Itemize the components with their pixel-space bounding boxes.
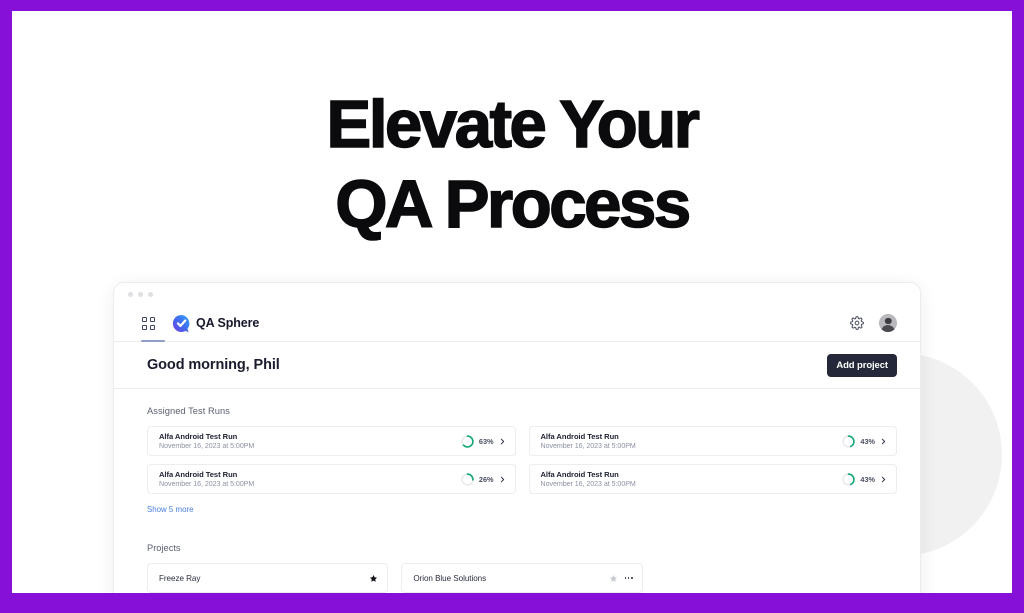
progress-percent: 63% xyxy=(479,437,494,446)
test-run-row[interactable]: Alfa Android Test Run November 16, 2023 … xyxy=(529,426,898,456)
chevron-right-icon[interactable] xyxy=(880,437,887,446)
star-outline-icon[interactable] xyxy=(609,574,618,583)
progress-percent: 43% xyxy=(860,437,875,446)
progress-ring-icon xyxy=(842,473,855,486)
project-actions xyxy=(369,574,378,583)
test-run-row[interactable]: Alfa Android Test Run November 16, 2023 … xyxy=(147,426,516,456)
test-runs-grid: Alfa Android Test Run November 16, 2023 … xyxy=(147,426,897,494)
test-run-progress: 63% xyxy=(461,435,506,448)
test-run-row[interactable]: Alfa Android Test Run November 16, 2023 … xyxy=(529,464,898,494)
active-tab-underline xyxy=(141,340,165,342)
test-run-progress: 43% xyxy=(842,435,887,448)
star-filled-icon[interactable] xyxy=(369,574,378,583)
test-run-title: Alfa Android Test Run xyxy=(159,470,254,479)
page-title: Good morning, Phil xyxy=(147,357,280,373)
topbar-right-actions xyxy=(850,314,897,332)
brand-logo[interactable]: QA Sphere xyxy=(172,314,259,333)
project-name: Orion Blue Solutions xyxy=(413,574,486,583)
test-run-date: November 16, 2023 at 5:00PM xyxy=(541,480,636,488)
gear-icon[interactable] xyxy=(850,316,864,330)
avatar-face xyxy=(885,318,892,325)
app-topbar: QA Sphere xyxy=(114,305,920,342)
more-options-icon[interactable] xyxy=(625,577,633,579)
test-run-title: Alfa Android Test Run xyxy=(159,432,254,441)
test-run-text: Alfa Android Test Run November 16, 2023 … xyxy=(541,470,636,489)
progress-ring-icon xyxy=(842,435,855,448)
projects-label: Projects xyxy=(147,543,897,553)
progress-percent: 43% xyxy=(860,475,875,484)
window-dot-maximize-icon xyxy=(148,292,153,297)
chevron-right-icon[interactable] xyxy=(499,475,506,484)
test-run-text: Alfa Android Test Run November 16, 2023 … xyxy=(541,432,636,451)
projects-grid: Freeze Ray Orion Blue Solutions xyxy=(147,563,897,593)
hero-line-1: Elevate Your xyxy=(12,85,1012,165)
test-run-date: November 16, 2023 at 5:00PM xyxy=(541,442,636,450)
project-card[interactable]: Orion Blue Solutions xyxy=(401,563,642,593)
progress-percent: 26% xyxy=(479,475,494,484)
window-dot-minimize-icon xyxy=(138,292,143,297)
qa-sphere-logo-icon xyxy=(172,314,191,333)
app-main-content: Assigned Test Runs Alfa Android Test Run… xyxy=(114,389,920,593)
test-run-text: Alfa Android Test Run November 16, 2023 … xyxy=(159,470,254,489)
project-card[interactable]: Freeze Ray xyxy=(147,563,388,593)
progress-ring-icon xyxy=(461,435,474,448)
greeting-row: Good morning, Phil Add project xyxy=(114,342,920,389)
show-more-link[interactable]: Show 5 more xyxy=(147,505,194,514)
test-run-progress: 43% xyxy=(842,473,887,486)
add-project-button[interactable]: Add project xyxy=(827,354,897,377)
page-content-area: Elevate Your QA Process xyxy=(12,11,1012,593)
avatar[interactable] xyxy=(879,314,897,332)
hero-headline: Elevate Your QA Process xyxy=(12,85,1012,245)
project-actions xyxy=(609,574,633,583)
test-run-row[interactable]: Alfa Android Test Run November 16, 2023 … xyxy=(147,464,516,494)
progress-ring-icon xyxy=(461,473,474,486)
test-run-title: Alfa Android Test Run xyxy=(541,432,636,441)
app-window-preview: QA Sphere Good morning, Phil xyxy=(113,282,921,593)
test-run-date: November 16, 2023 at 5:00PM xyxy=(159,442,254,450)
test-run-date: November 16, 2023 at 5:00PM xyxy=(159,480,254,488)
test-run-title: Alfa Android Test Run xyxy=(541,470,636,479)
chevron-right-icon[interactable] xyxy=(499,437,506,446)
avatar-body xyxy=(881,325,895,333)
assigned-test-runs-label: Assigned Test Runs xyxy=(147,406,897,416)
grid-apps-icon[interactable] xyxy=(142,317,155,330)
project-name: Freeze Ray xyxy=(159,574,200,583)
brand-name-label: QA Sphere xyxy=(196,316,259,330)
window-chrome xyxy=(114,283,920,305)
window-dot-close-icon xyxy=(128,292,133,297)
topbar-left-nav: QA Sphere xyxy=(142,314,259,333)
chevron-right-icon[interactable] xyxy=(880,475,887,484)
test-run-text: Alfa Android Test Run November 16, 2023 … xyxy=(159,432,254,451)
hero-line-2: QA Process xyxy=(12,165,1012,245)
test-run-progress: 26% xyxy=(461,473,506,486)
